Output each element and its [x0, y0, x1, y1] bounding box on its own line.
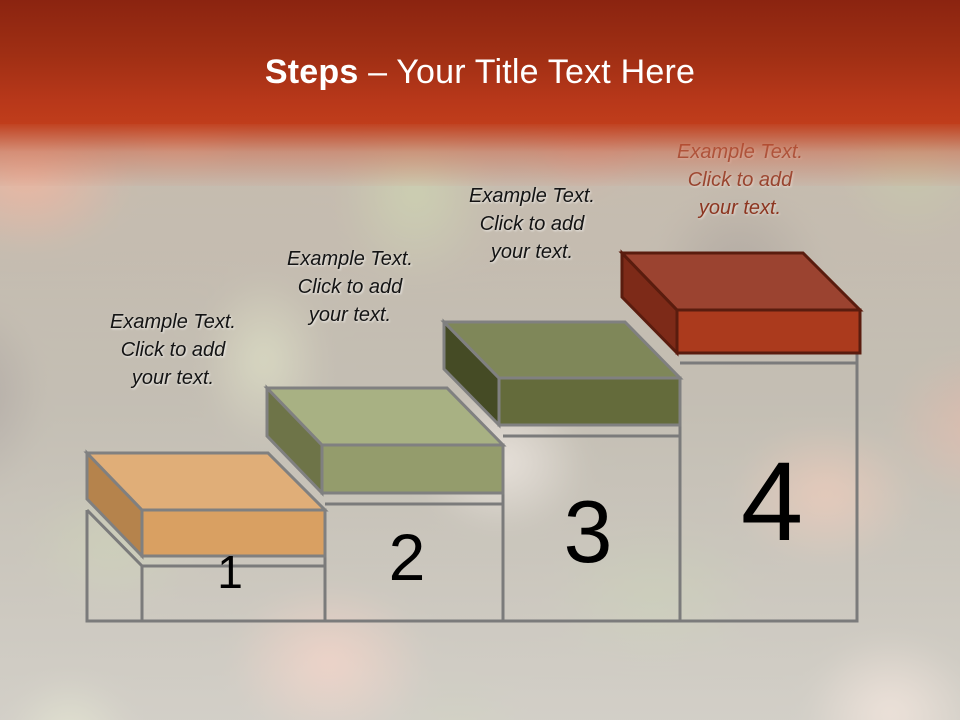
- page-title[interactable]: Steps – Your Title Text Here: [0, 50, 960, 94]
- step-caption-2[interactable]: Example Text. Click to add your text.: [250, 245, 450, 329]
- step-2-front-face: [322, 445, 503, 493]
- step-block-1[interactable]: [87, 453, 325, 556]
- step-number-2: 2: [362, 524, 452, 590]
- step-number-1: 1: [190, 549, 270, 595]
- step-block-2[interactable]: [267, 388, 503, 493]
- step-caption-1[interactable]: Example Text. Click to add your text.: [73, 308, 273, 392]
- title-bar-fade: [0, 124, 960, 186]
- slide-canvas: 1 2 3 4 Example Text. Click to add your …: [0, 0, 960, 720]
- step-block-4[interactable]: [622, 253, 860, 353]
- step-3-front-face: [499, 378, 680, 425]
- step-number-3: 3: [538, 488, 638, 576]
- step-block-3[interactable]: [444, 322, 680, 425]
- page-title-rest: – Your Title Text Here: [358, 53, 695, 91]
- step-4-front-face: [677, 310, 860, 353]
- page-title-bold: Steps: [265, 53, 359, 91]
- step-caption-3[interactable]: Example Text. Click to add your text.: [432, 182, 632, 266]
- step-number-4: 4: [712, 446, 832, 558]
